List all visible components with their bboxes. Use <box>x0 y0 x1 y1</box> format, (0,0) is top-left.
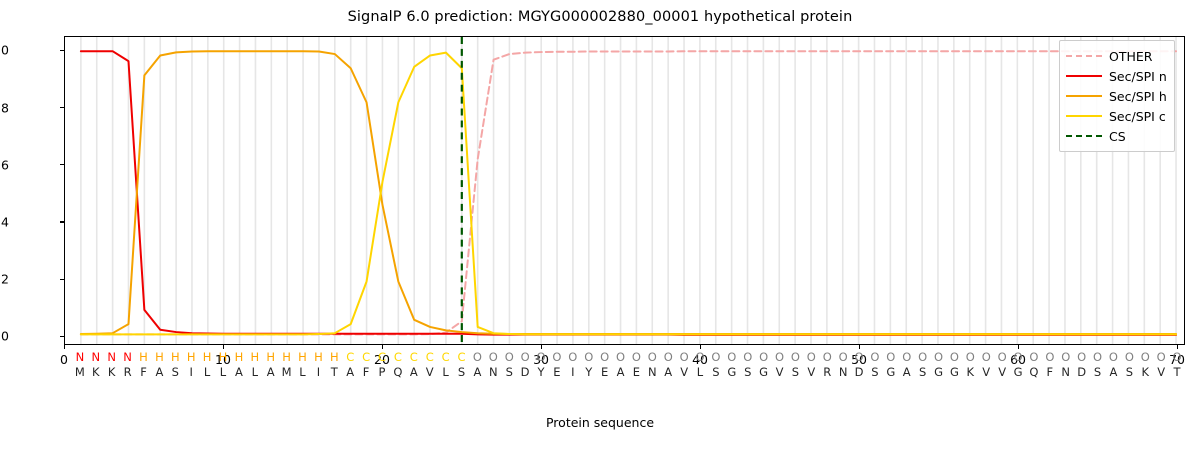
legend-item-sec-spi-c[interactable]: Sec/SPI c <box>1066 106 1167 126</box>
y-tick-label: 0.0 <box>0 329 9 344</box>
signalp-prediction-figure: SignalP 6.0 prediction: MGYG000002880_00… <box>0 0 1200 450</box>
residue-letter: T <box>1162 364 1192 380</box>
legend-item-cs[interactable]: CS <box>1066 126 1167 146</box>
legend-label: Sec/SPI c <box>1109 109 1166 124</box>
y-tick-label: 0.6 <box>0 157 9 172</box>
legend-item-sec-spi-h[interactable]: Sec/SPI h <box>1066 86 1167 106</box>
plot-area <box>64 36 1185 345</box>
legend-swatch-icon <box>1066 70 1102 82</box>
legend-label: CS <box>1109 129 1126 144</box>
x-axis-label: Protein sequence <box>0 415 1200 430</box>
page-title: SignalP 6.0 prediction: MGYG000002880_00… <box>0 9 1200 25</box>
legend-item-other[interactable]: OTHER <box>1066 46 1167 66</box>
legend-label: OTHER <box>1109 49 1152 64</box>
y-tick-label: 0.8 <box>0 100 9 115</box>
legend-swatch-icon <box>1066 90 1102 102</box>
residue-sequence-row: MKKRFASILLALAMLITAFPQAVLSANSDYEIYEAENAVL… <box>64 364 1185 380</box>
region-marker: O <box>1162 349 1192 365</box>
cleavage-site-line <box>65 37 1184 344</box>
region-annotation-row: NNNNHHHHHHHHHHHHHCCCCCCCCOOOOOOOOOOOOOOO… <box>64 349 1185 365</box>
y-tick-label: 0.4 <box>0 214 9 229</box>
legend-swatch-icon <box>1066 110 1102 122</box>
legend-swatch-icon <box>1066 130 1102 142</box>
legend-label: Sec/SPI n <box>1109 69 1167 84</box>
legend-swatch-icon <box>1066 50 1102 62</box>
legend-label: Sec/SPI h <box>1109 89 1167 104</box>
legend[interactable]: OTHERSec/SPI nSec/SPI hSec/SPI cCS <box>1059 40 1175 152</box>
y-tick-label: 0.2 <box>0 272 9 287</box>
y-tick-label: 1.0 <box>0 43 9 58</box>
legend-item-sec-spi-n[interactable]: Sec/SPI n <box>1066 66 1167 86</box>
